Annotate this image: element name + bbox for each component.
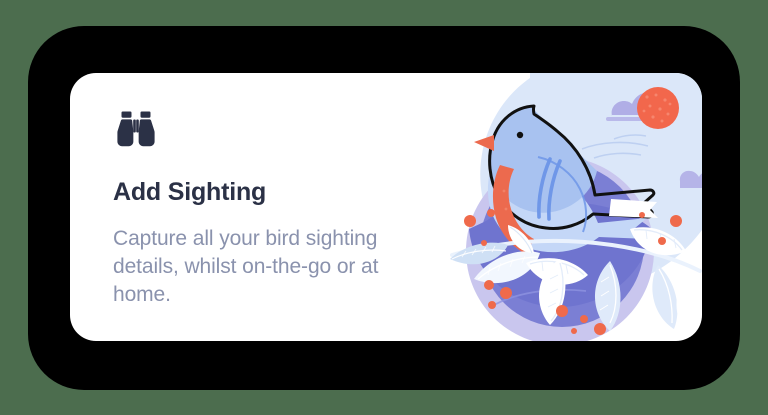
screen: Add Sighting Capture all your bird sight… [0,0,768,415]
card-text-column: Add Sighting Capture all your bird sight… [113,111,433,310]
sun [637,87,679,129]
bird-eye [517,132,523,138]
bird-tail-light [609,199,658,218]
binoculars-icon [113,111,159,147]
card-description: Capture all your bird sighting details, … [113,225,413,310]
leaf-far-right [652,265,677,329]
add-sighting-card[interactable]: Add Sighting Capture all your bird sight… [70,73,702,341]
card-title: Add Sighting [113,179,433,207]
leaf-right-edge [676,287,696,341]
bluebird-illustration [434,73,702,341]
